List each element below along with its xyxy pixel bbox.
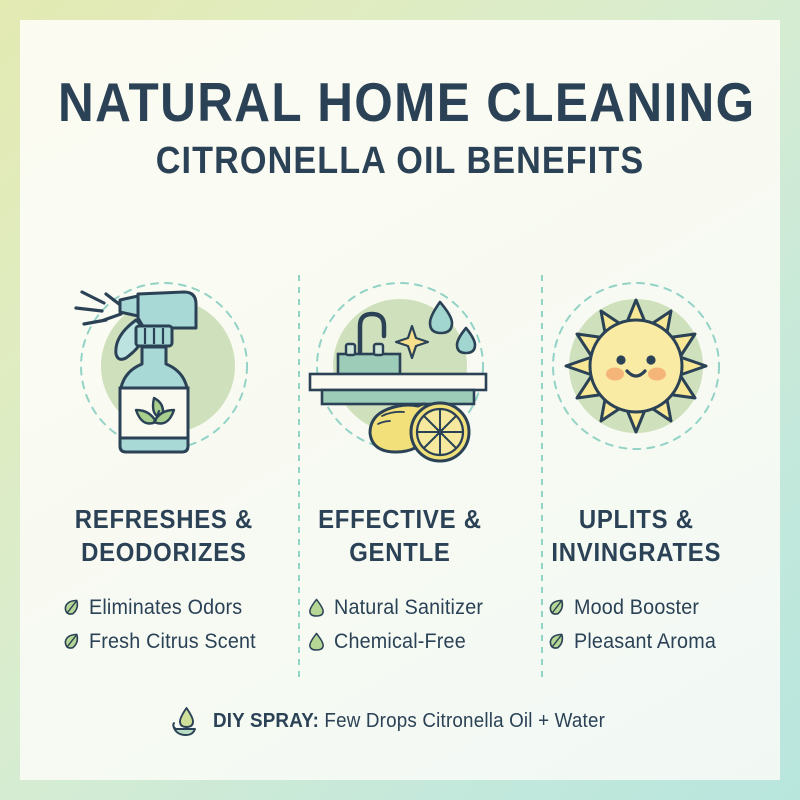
leaf-icon [547, 631, 566, 652]
benefit-column-effective: EFFECTIVE & GENTLE Natural Sanitizer Che… [282, 270, 518, 663]
list-item-label: Chemical-Free [334, 629, 466, 654]
list-item: Mood Booster [547, 595, 725, 620]
list-item-label: Natural Sanitizer [334, 595, 483, 620]
column-heading: EFFECTIVE & GENTLE [318, 503, 482, 569]
list-item-label: Eliminates Odors [89, 595, 242, 620]
benefit-column-refreshes: REFRESHES & DEODORIZES Eliminates Odors [46, 270, 282, 663]
sink-lemon-icon [300, 270, 500, 465]
footer-label: DIY SPRAY: Few Drops Citronella Oil + Wa… [213, 709, 605, 733]
page-subtitle: CITRONELLA OIL BENEFITS [58, 138, 742, 184]
droplet-leaf-icon [169, 704, 203, 738]
list-item: Natural Sanitizer [307, 595, 493, 620]
poster-canvas: NATURAL HOME CLEANING CITRONELLA OIL BEN… [0, 0, 800, 800]
column-heading: REFRESHES & DEODORIZES [75, 503, 253, 569]
poster-header: NATURAL HOME CLEANING CITRONELLA OIL BEN… [20, 72, 780, 184]
benefit-list: Natural Sanitizer Chemical-Free [307, 595, 493, 663]
poster-panel: NATURAL HOME CLEANING CITRONELLA OIL BEN… [20, 20, 780, 780]
list-item: Eliminates Odors [62, 595, 267, 620]
footer-tip: DIY SPRAY: Few Drops Citronella Oil + Wa… [20, 704, 780, 738]
droplet-icon [307, 597, 326, 618]
list-item: Fresh Citrus Scent [62, 629, 267, 654]
list-item-label: Pleasant Aroma [574, 629, 716, 654]
leaf-icon [547, 597, 566, 618]
leaf-icon [62, 631, 81, 652]
leaf-icon [62, 597, 81, 618]
list-item-label: Mood Booster [574, 595, 699, 620]
benefit-columns: REFRESHES & DEODORIZES Eliminates Odors [46, 270, 754, 663]
droplet-icon [307, 631, 326, 652]
smiling-sun-icon [536, 270, 736, 465]
page-title: NATURAL HOME CLEANING [58, 72, 742, 132]
benefit-column-uplifts: UPLITS & INVINGRATES Mood Booster [518, 270, 754, 663]
benefit-list: Eliminates Odors Fresh Citrus Scent [62, 595, 267, 663]
benefit-list: Mood Booster Pleasant Aroma [547, 595, 725, 663]
list-item: Pleasant Aroma [547, 629, 725, 654]
column-heading: UPLITS & INVINGRATES [551, 503, 721, 569]
footer-label-rest: Few Drops Citronella Oil + Water [319, 710, 605, 732]
list-item: Chemical-Free [307, 629, 493, 654]
list-item-label: Fresh Citrus Scent [89, 629, 256, 654]
spray-bottle-icon [64, 270, 264, 465]
footer-label-bold: DIY SPRAY: [213, 710, 319, 732]
